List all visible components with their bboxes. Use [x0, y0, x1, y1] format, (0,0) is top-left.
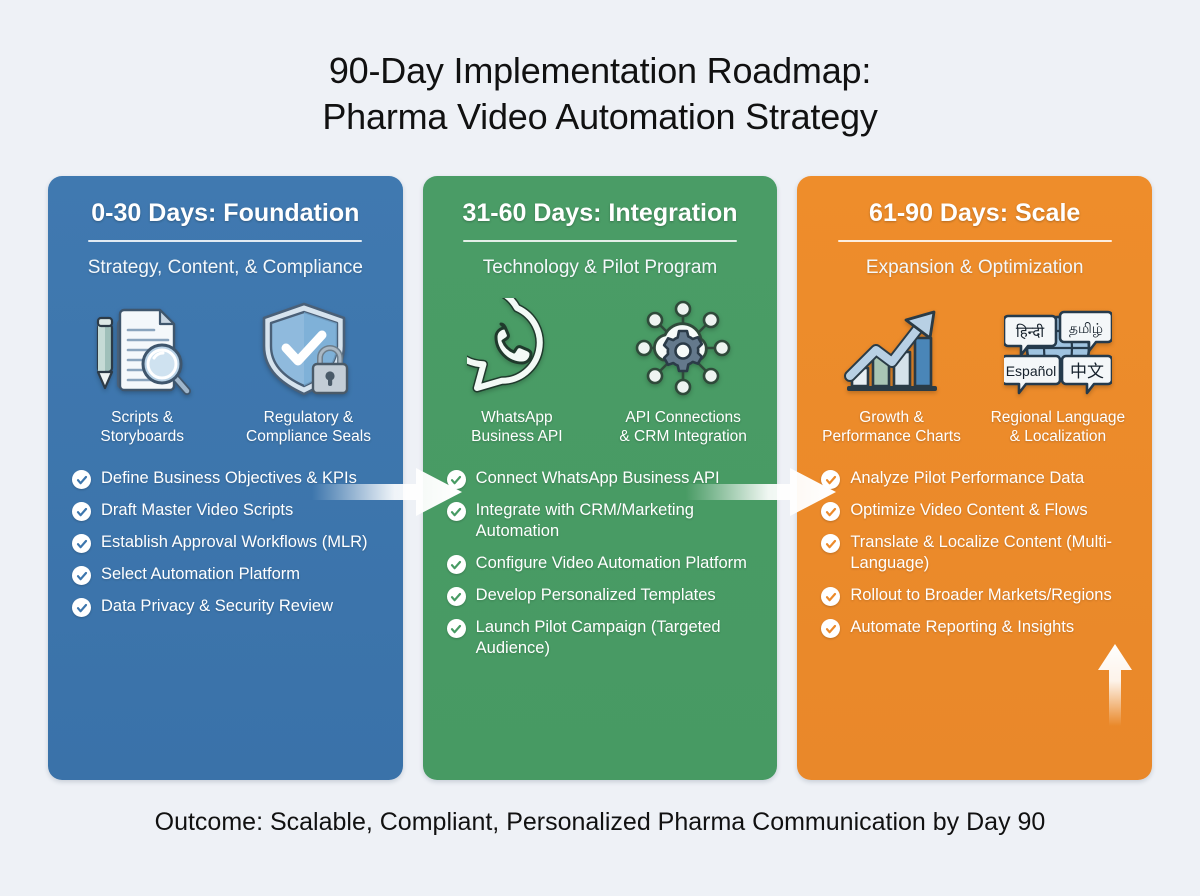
- icon-label: Growth & Performance Charts: [822, 408, 961, 446]
- check-circle-icon: [821, 470, 840, 489]
- icon-label: Scripts & Storyboards: [100, 408, 184, 446]
- check-circle-icon: [447, 470, 466, 489]
- checklist-item[interactable]: Select Automation Platform: [66, 564, 385, 585]
- check-circle-icon: [72, 598, 91, 617]
- phase-title: 61-90 Days: Scale: [815, 198, 1134, 228]
- icon-label-line1: Regional Language: [991, 409, 1125, 426]
- icon-label-line1: Regulatory &: [264, 409, 354, 426]
- check-circle-icon: [447, 502, 466, 521]
- outcome-footer: Outcome: Scalable, Compliant, Personaliz…: [0, 806, 1200, 838]
- check-circle-icon: [447, 619, 466, 638]
- icon-label-line1: WhatsApp: [481, 409, 553, 426]
- checklist-item[interactable]: Integrate with CRM/Marketing Automation: [441, 500, 760, 542]
- phase-title: 0-30 Days: Foundation: [66, 198, 385, 228]
- phase-checklist: Analyze Pilot Performance Data Optimize …: [815, 468, 1134, 638]
- page-title-line1: 90-Day Implementation Roadmap:: [329, 50, 871, 91]
- check-circle-icon: [821, 502, 840, 521]
- checklist-item[interactable]: Automate Reporting & Insights: [815, 617, 1134, 638]
- icon-label-line2: Business API: [471, 428, 562, 445]
- checklist-item[interactable]: Optimize Video Content & Flows: [815, 500, 1134, 521]
- check-circle-icon: [821, 534, 840, 553]
- phase-subtitle: Strategy, Content, & Compliance: [66, 256, 385, 280]
- globe-bubble-text-tamil: தமிழ்: [1069, 321, 1103, 337]
- checklist-label: Select Automation Platform: [101, 564, 300, 585]
- check-circle-icon: [447, 587, 466, 606]
- icon-label-line2: & CRM Integration: [619, 428, 747, 445]
- checklist-label: Draft Master Video Scripts: [101, 500, 293, 521]
- divider: [463, 240, 737, 242]
- icon-label-line1: API Connections: [625, 409, 740, 426]
- checklist-item[interactable]: Establish Approval Workflows (MLR): [66, 532, 385, 553]
- checklist-item[interactable]: Launch Pilot Campaign (Targeted Audience…: [441, 617, 760, 659]
- shield-lock-icon: [256, 296, 360, 400]
- check-circle-icon: [821, 587, 840, 606]
- document-magnifier-icon: [90, 296, 194, 400]
- icon-cell: Regulatory & Compliance Seals: [232, 296, 384, 446]
- checklist-label: Develop Personalized Templates: [476, 585, 716, 606]
- phase-checklist: Define Business Objectives & KPIs Draft …: [66, 468, 385, 617]
- icon-label: API Connections & CRM Integration: [619, 408, 747, 446]
- checklist-label: Establish Approval Workflows (MLR): [101, 532, 368, 553]
- checklist-label: Connect WhatsApp Business API: [476, 468, 720, 489]
- cloud-gear-network-icon: [631, 296, 735, 400]
- phase-card-integration[interactable]: 31-60 Days: Integration Technology & Pil…: [423, 176, 778, 780]
- check-circle-icon: [821, 619, 840, 638]
- check-circle-icon: [72, 470, 91, 489]
- checklist-item[interactable]: Connect WhatsApp Business API: [441, 468, 760, 489]
- whatsapp-icon: [467, 296, 567, 400]
- checklist-label: Integrate with CRM/Marketing Automation: [476, 500, 760, 542]
- icon-label: Regional Language & Localization: [991, 408, 1125, 446]
- check-circle-icon: [447, 555, 466, 574]
- icon-label: Regulatory & Compliance Seals: [246, 408, 371, 446]
- phase-card-foundation[interactable]: 0-30 Days: Foundation Strategy, Content,…: [48, 176, 403, 780]
- icon-label-line1: Scripts &: [111, 409, 173, 426]
- icon-label: WhatsApp Business API: [471, 408, 562, 446]
- checklist-item[interactable]: Draft Master Video Scripts: [66, 500, 385, 521]
- divider: [88, 240, 362, 242]
- checklist-item[interactable]: Analyze Pilot Performance Data: [815, 468, 1134, 489]
- phase-checklist: Connect WhatsApp Business API Integrate …: [441, 468, 760, 659]
- checklist-label: Define Business Objectives & KPIs: [101, 468, 357, 489]
- icon-label-line2: Performance Charts: [822, 428, 961, 445]
- check-circle-icon: [72, 566, 91, 585]
- icon-label-line1: Growth &: [859, 409, 924, 426]
- checklist-label: Translate & Localize Content (Multi-Lang…: [850, 532, 1134, 574]
- checklist-label: Data Privacy & Security Review: [101, 596, 333, 617]
- icon-label-line2: Storyboards: [100, 428, 184, 445]
- icon-cell: हिन्दी தமிழ் Español: [982, 296, 1134, 446]
- checklist-item[interactable]: Configure Video Automation Platform: [441, 553, 760, 574]
- globe-bubble-text-chinese: 中文: [1070, 362, 1104, 382]
- phase-title: 31-60 Days: Integration: [441, 198, 760, 228]
- check-circle-icon: [72, 502, 91, 521]
- phase-icon-row: WhatsApp Business API: [441, 296, 760, 446]
- phase-card-scale[interactable]: 61-90 Days: Scale Expansion & Optimizati…: [797, 176, 1152, 780]
- check-circle-icon: [72, 534, 91, 553]
- phase-icon-row: Growth & Performance Charts: [815, 296, 1134, 446]
- icon-cell: WhatsApp Business API: [441, 296, 593, 446]
- checklist-label: Launch Pilot Campaign (Targeted Audience…: [476, 617, 760, 659]
- checklist-label: Optimize Video Content & Flows: [850, 500, 1087, 521]
- phase-subtitle: Technology & Pilot Program: [441, 256, 760, 280]
- infographic-canvas: 90-Day Implementation Roadmap: Pharma Vi…: [0, 0, 1200, 896]
- icon-cell: Scripts & Storyboards: [66, 296, 218, 446]
- checklist-item[interactable]: Define Business Objectives & KPIs: [66, 468, 385, 489]
- checklist-label: Configure Video Automation Platform: [476, 553, 747, 574]
- icon-label-line2: & Localization: [1010, 428, 1107, 445]
- phase-columns: 0-30 Days: Foundation Strategy, Content,…: [48, 176, 1152, 780]
- globe-bubble-text-hindi: हिन्दी: [1016, 323, 1045, 341]
- globe-bubble-text-spanish: Español: [1006, 363, 1057, 379]
- icon-cell: API Connections & CRM Integration: [607, 296, 759, 446]
- checklist-label: Automate Reporting & Insights: [850, 617, 1074, 638]
- growth-chart-icon: [842, 296, 942, 400]
- upward-growth-arrow-icon: [1096, 640, 1134, 726]
- icon-label-line2: Compliance Seals: [246, 428, 371, 445]
- checklist-label: Analyze Pilot Performance Data: [850, 468, 1084, 489]
- divider: [838, 240, 1112, 242]
- globe-languages-icon: हिन्दी தமிழ் Español: [1004, 296, 1112, 400]
- checklist-item[interactable]: Translate & Localize Content (Multi-Lang…: [815, 532, 1134, 574]
- checklist-item[interactable]: Develop Personalized Templates: [441, 585, 760, 606]
- checklist-item[interactable]: Data Privacy & Security Review: [66, 596, 385, 617]
- checklist-label: Rollout to Broader Markets/Regions: [850, 585, 1111, 606]
- page-title: 90-Day Implementation Roadmap: Pharma Vi…: [0, 48, 1200, 140]
- page-title-line2: Pharma Video Automation Strategy: [0, 94, 1200, 140]
- icon-cell: Growth & Performance Charts: [815, 296, 967, 446]
- phase-icon-row: Scripts & Storyboards: [66, 296, 385, 446]
- phase-subtitle: Expansion & Optimization: [815, 256, 1134, 280]
- checklist-item[interactable]: Rollout to Broader Markets/Regions: [815, 585, 1134, 606]
